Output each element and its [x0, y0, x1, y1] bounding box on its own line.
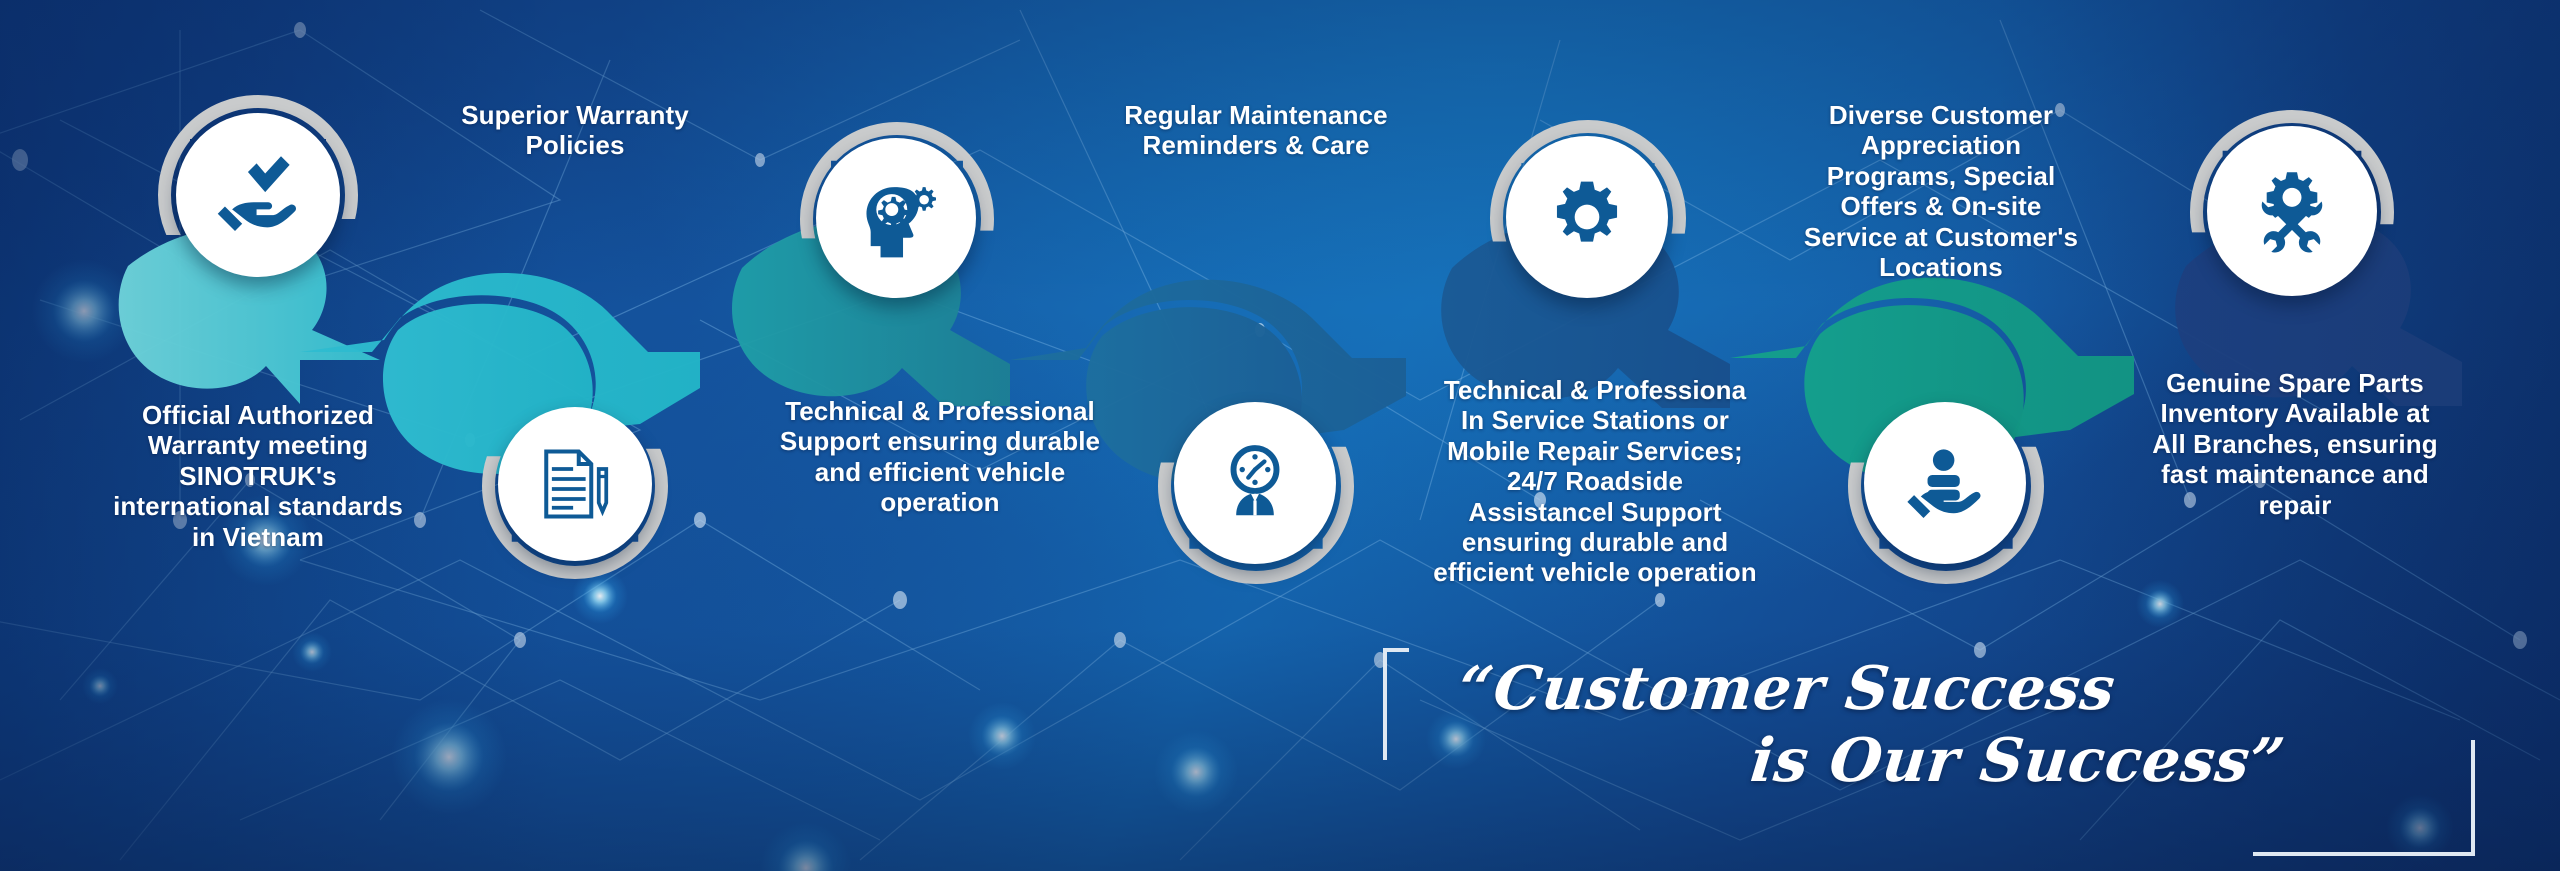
node-warranty-policies[interactable] — [482, 393, 668, 579]
icon-disc-3[interactable] — [816, 138, 976, 298]
bracket-left-decoration — [1383, 648, 1409, 760]
caption-service-stations: Technical & Professiona In Service Stati… — [1420, 375, 1770, 588]
icon-disc-4[interactable] — [1174, 402, 1336, 564]
slogan-line-1: “Customer Success — [1455, 654, 2118, 724]
icon-disc-1[interactable] — [176, 113, 340, 277]
person-clock-icon — [1212, 440, 1298, 526]
node-maintenance-reminders[interactable] — [1158, 388, 1354, 584]
hand-person-icon — [1902, 440, 1988, 526]
caption-spare-parts: Genuine Spare Parts Inventory Available … — [2136, 368, 2454, 520]
caption-maintenance-reminders: Regular Maintenance Reminders & Care — [1096, 100, 1416, 161]
hand-check-icon — [212, 149, 304, 241]
slogan-block: “Customer Success is Our Success” — [1383, 648, 2473, 858]
caption-warranty-policies: Superior Warranty Policies — [420, 100, 730, 161]
node-spare-parts[interactable] — [2190, 110, 2394, 314]
gear-icon — [1545, 175, 1629, 259]
document-pencil-icon — [535, 444, 615, 524]
caption-customer-appreciation: Diverse Customer Appreciation Programs, … — [1784, 100, 2098, 282]
node-technical-support[interactable] — [800, 122, 994, 316]
icon-disc-2[interactable] — [498, 407, 652, 561]
icon-disc-6[interactable] — [1864, 402, 2026, 564]
infographic-banner: Official Authorized Warranty meeting SIN… — [0, 0, 2560, 871]
node-authorized-warranty[interactable] — [158, 95, 358, 295]
node-service-stations[interactable] — [1490, 120, 1686, 316]
caption-authorized-warranty: Official Authorized Warranty meeting SIN… — [102, 400, 414, 552]
icon-disc-5[interactable] — [1506, 136, 1668, 298]
icon-disc-7[interactable] — [2207, 126, 2377, 296]
head-gears-icon — [851, 173, 941, 263]
node-customer-appreciation[interactable] — [1848, 388, 2044, 584]
wrenches-gear-icon — [2246, 165, 2338, 257]
caption-technical-support: Technical & Professional Support ensurin… — [770, 396, 1110, 518]
slogan-line-2: is Our Success” — [1747, 726, 2288, 796]
bracket-right-decoration — [2253, 740, 2475, 856]
